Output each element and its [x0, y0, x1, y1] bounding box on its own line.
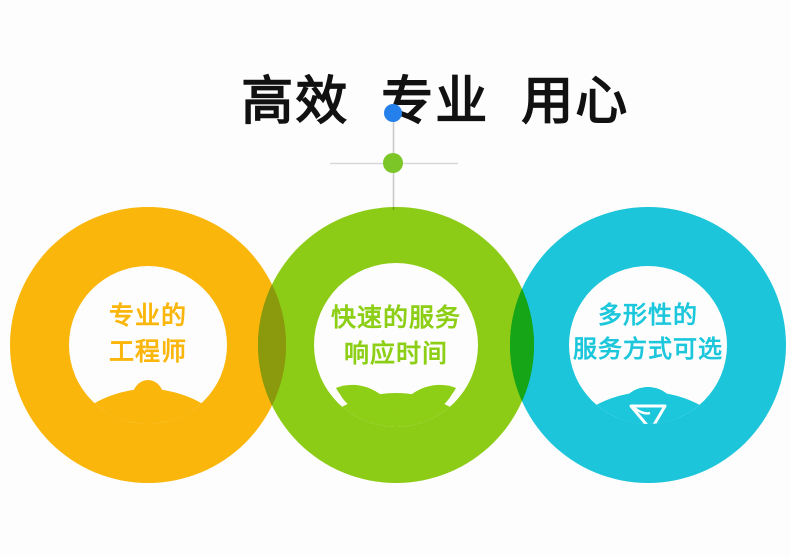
overlap-green-cyan [0, 0, 790, 557]
circle-middle-caption: 快速的服务 响应时间 [281, 300, 511, 371]
circle-left-line1: 专业的 [109, 301, 187, 330]
circle-left-caption: 专业的 工程师 [33, 298, 263, 369]
circle-left-line2: 工程师 [33, 334, 263, 370]
circle-middle-line2: 响应时间 [281, 336, 511, 372]
circle-middle-line1: 快速的服务 [331, 303, 461, 332]
circle-right-line2: 服务方式可选 [533, 332, 763, 366]
circle-right-caption: 多形性的 服务方式可选 [533, 298, 763, 366]
circle-right-line1: 多形性的 [598, 301, 698, 329]
poster-root: 高效专业用心 [0, 0, 790, 557]
venn-diagram [0, 0, 790, 557]
